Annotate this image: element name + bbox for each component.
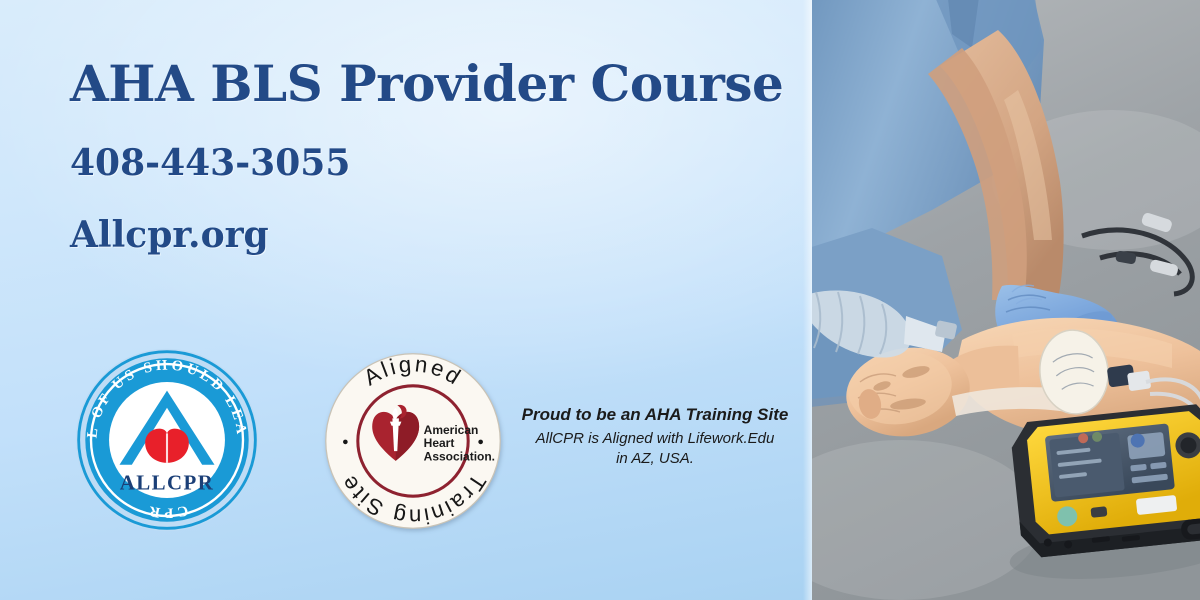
svg-text:American: American <box>424 423 479 437</box>
training-site-line2: in AZ, USA. <box>510 449 800 469</box>
page-title: AHA BLS Provider Course <box>70 58 790 111</box>
website-url[interactable]: Allcpr.org <box>70 217 790 253</box>
training-site-headline: Proud to be an AHA Training Site <box>510 404 800 425</box>
svg-text:Heart: Heart <box>424 436 455 450</box>
svg-text:ALLCPR: ALLCPR <box>120 470 214 494</box>
cpr-training-photo <box>812 0 1200 600</box>
allcpr-seal-icon: ALL OF US SHOULD LEARN CPR ALLCPR <box>72 345 262 535</box>
badges-row: ALL OF US SHOULD LEARN CPR ALLCPR <box>62 340 802 540</box>
headline-block: AHA BLS Provider Course 408-443-3055 All… <box>70 58 790 253</box>
training-site-statement: Proud to be an AHA Training Site AllCPR … <box>510 404 800 468</box>
aha-aligned-training-site-icon: Aligned Training Site <box>324 352 502 530</box>
training-site-line1: AllCPR is Aligned with Lifework.Edu <box>510 429 800 449</box>
svg-text:CPR: CPR <box>145 502 190 521</box>
phone-number[interactable]: 408-443-3055 <box>70 145 790 181</box>
event-banner: AHA BLS Provider Course 408-443-3055 All… <box>0 0 1200 600</box>
svg-text:Association.: Association. <box>424 450 495 464</box>
